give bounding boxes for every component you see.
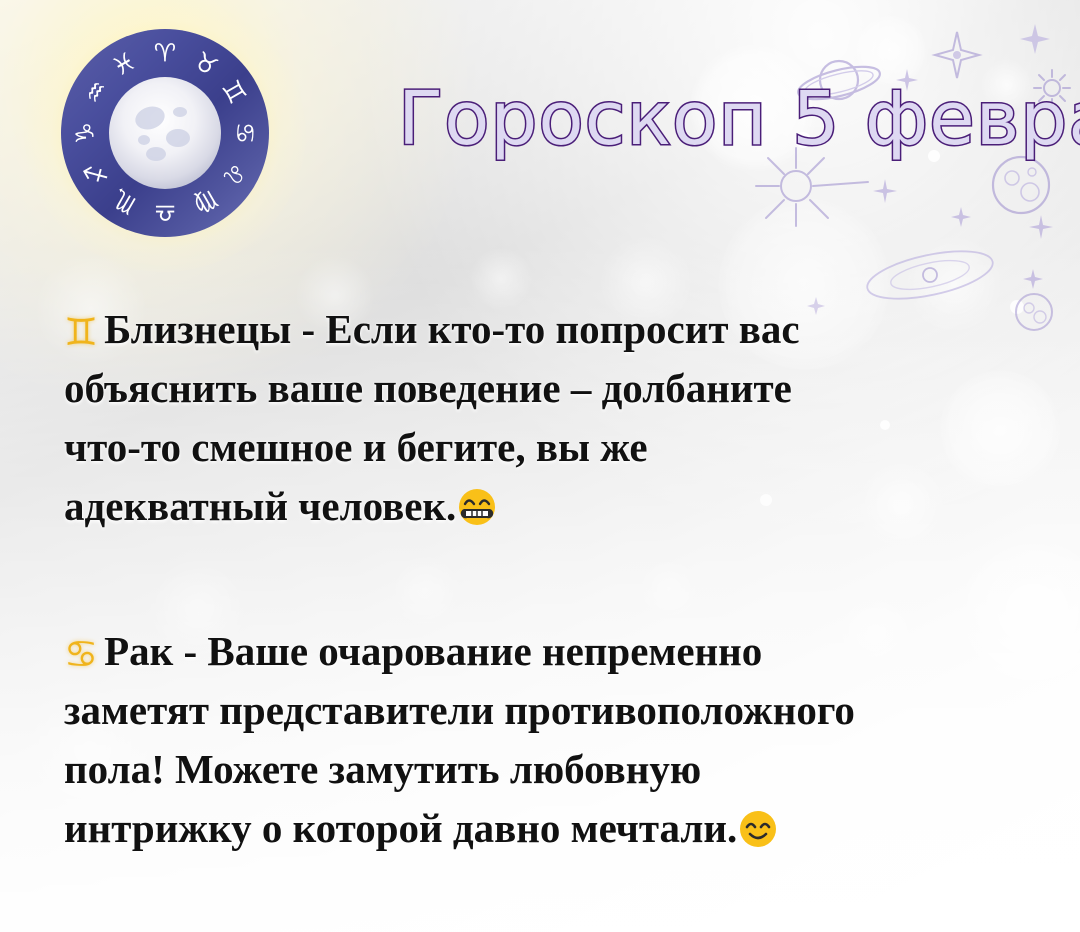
entry-line: пола! Можете замутить любовную bbox=[64, 740, 1024, 799]
sparkle-star-doodle bbox=[950, 206, 972, 228]
entry-line: ♊Близнецы - Если кто-то попросит вас bbox=[64, 300, 1024, 359]
entry-line-text: пола! Можете замутить любовную bbox=[64, 746, 701, 792]
svg-text:♋: ♋ bbox=[231, 122, 260, 144]
horoscope-entry-gemini: ♊Близнецы - Если кто-то попросит вас объ… bbox=[64, 300, 1024, 536]
entry-line-text: заметят представители противоположного bbox=[64, 687, 855, 733]
svg-text:♎: ♎ bbox=[154, 199, 176, 228]
entry-line: заметят представители противоположного bbox=[64, 681, 1024, 740]
gemini-zodiac-icon: ♊ bbox=[64, 313, 98, 351]
entry-line-text: Близнецы - Если кто-то попросит вас bbox=[104, 306, 800, 352]
entry-line: ♋Рак - Ваше очарование непременно bbox=[64, 622, 1024, 681]
zodiac-wheel-logo: ♈ ♉ ♊ ♋ ♌ ♍ ♎ ♏ ♐ ♑ ♒ ♓ bbox=[58, 26, 272, 240]
entry-line-text: объяснить ваше поведение – долбаните bbox=[64, 365, 792, 411]
entry-line: объяснить ваше поведение – долбаните bbox=[64, 359, 1024, 418]
entry-line-text: интрижку о которой давно мечтали. bbox=[64, 805, 737, 851]
grinning-face-with-smiling-eyes-icon bbox=[457, 484, 497, 524]
svg-text:♑: ♑ bbox=[71, 122, 100, 144]
sparkle-star-doodle bbox=[1018, 22, 1052, 56]
sparkle-star-doodle bbox=[1028, 214, 1054, 240]
sparkle-star-doodle bbox=[872, 178, 898, 204]
horoscope-entry-cancer: ♋Рак - Ваше очарование непременно заметя… bbox=[64, 622, 1024, 858]
bokeh-circle bbox=[640, 560, 698, 618]
horoscope-poster: ♈ ♉ ♊ ♋ ♌ ♍ ♎ ♏ ♐ ♑ ♒ ♓ Гороскоп 5 февра… bbox=[0, 0, 1080, 932]
entry-line: адекватный человек. bbox=[64, 477, 1024, 536]
cancer-zodiac-icon: ♋ bbox=[64, 635, 98, 673]
entry-line-text: адекватный человек. bbox=[64, 483, 456, 529]
entry-line: что-то смешное и бегите, вы же bbox=[64, 418, 1024, 477]
page-title: Гороскоп 5 февраля bbox=[398, 66, 1070, 172]
sparkle-star-doodle bbox=[1022, 268, 1044, 290]
svg-text:♈: ♈ bbox=[154, 39, 176, 68]
zodiac-wheel-graphic: ♈ ♉ ♊ ♋ ♌ ♍ ♎ ♏ ♐ ♑ ♒ ♓ bbox=[58, 26, 272, 240]
smiling-face-with-smiling-eyes-icon bbox=[738, 806, 778, 846]
entry-line-text: Рак - Ваше очарование непременно bbox=[104, 628, 762, 674]
bokeh-circle bbox=[390, 556, 460, 626]
entry-line-text: что-то смешное и бегите, вы же bbox=[64, 424, 648, 470]
entry-line: интрижку о которой давно мечтали. bbox=[64, 799, 1024, 858]
